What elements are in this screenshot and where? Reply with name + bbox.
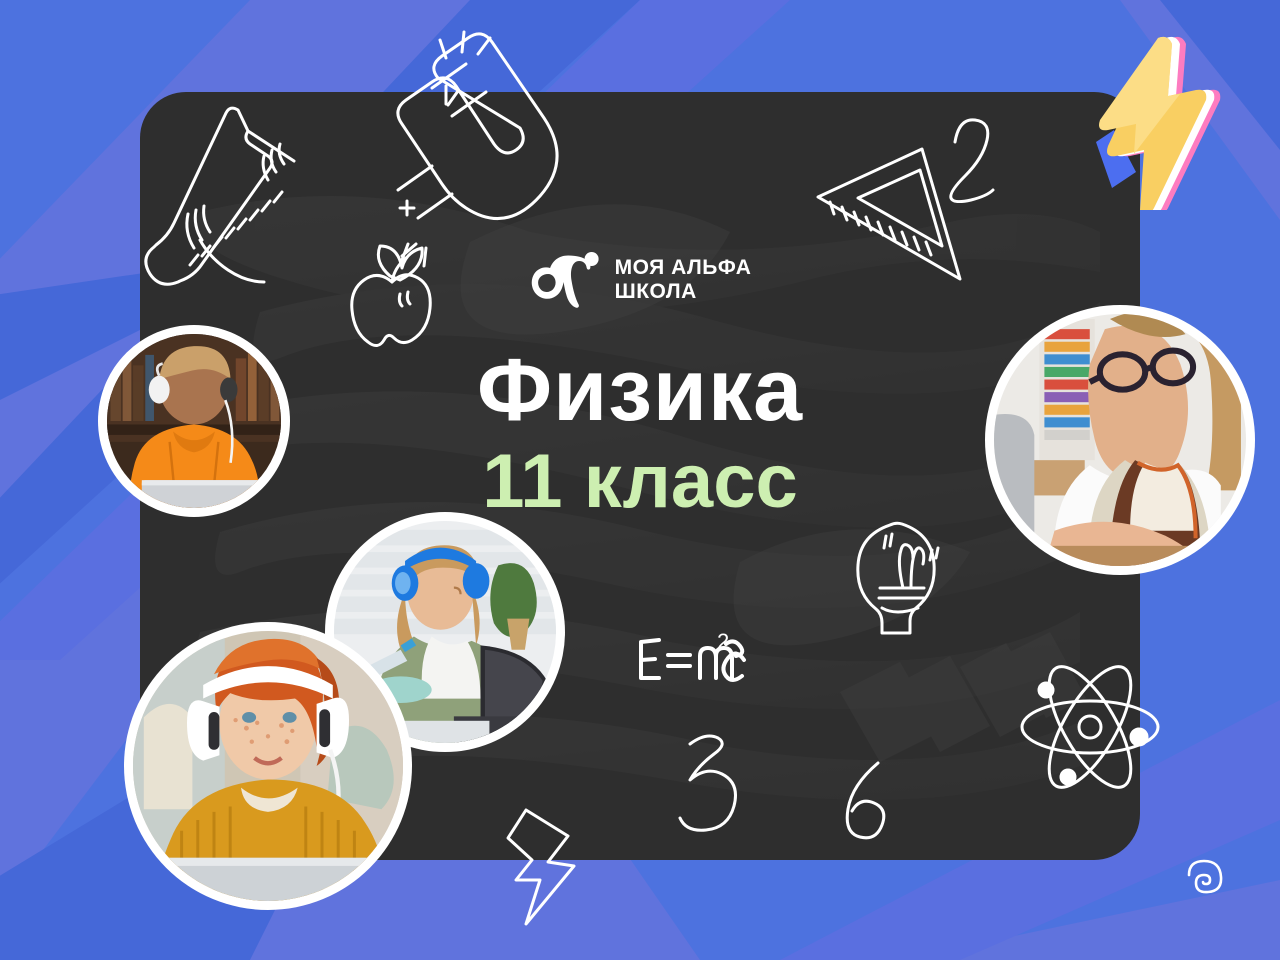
photo-girl-glasses-vest <box>985 305 1255 575</box>
photo-boy-orange-hoodie-image <box>107 334 281 508</box>
photo-boy-orange-hoodie <box>98 325 290 517</box>
photo-girl-red-hair <box>124 622 412 910</box>
lightning-bolt-3d-icon <box>1048 24 1224 210</box>
spiral-icon <box>1183 855 1227 899</box>
poster-canvas: 2 <box>0 0 1280 960</box>
photo-girl-glasses-vest-image <box>994 314 1246 566</box>
photo-girl-red-hair-image <box>133 631 403 901</box>
